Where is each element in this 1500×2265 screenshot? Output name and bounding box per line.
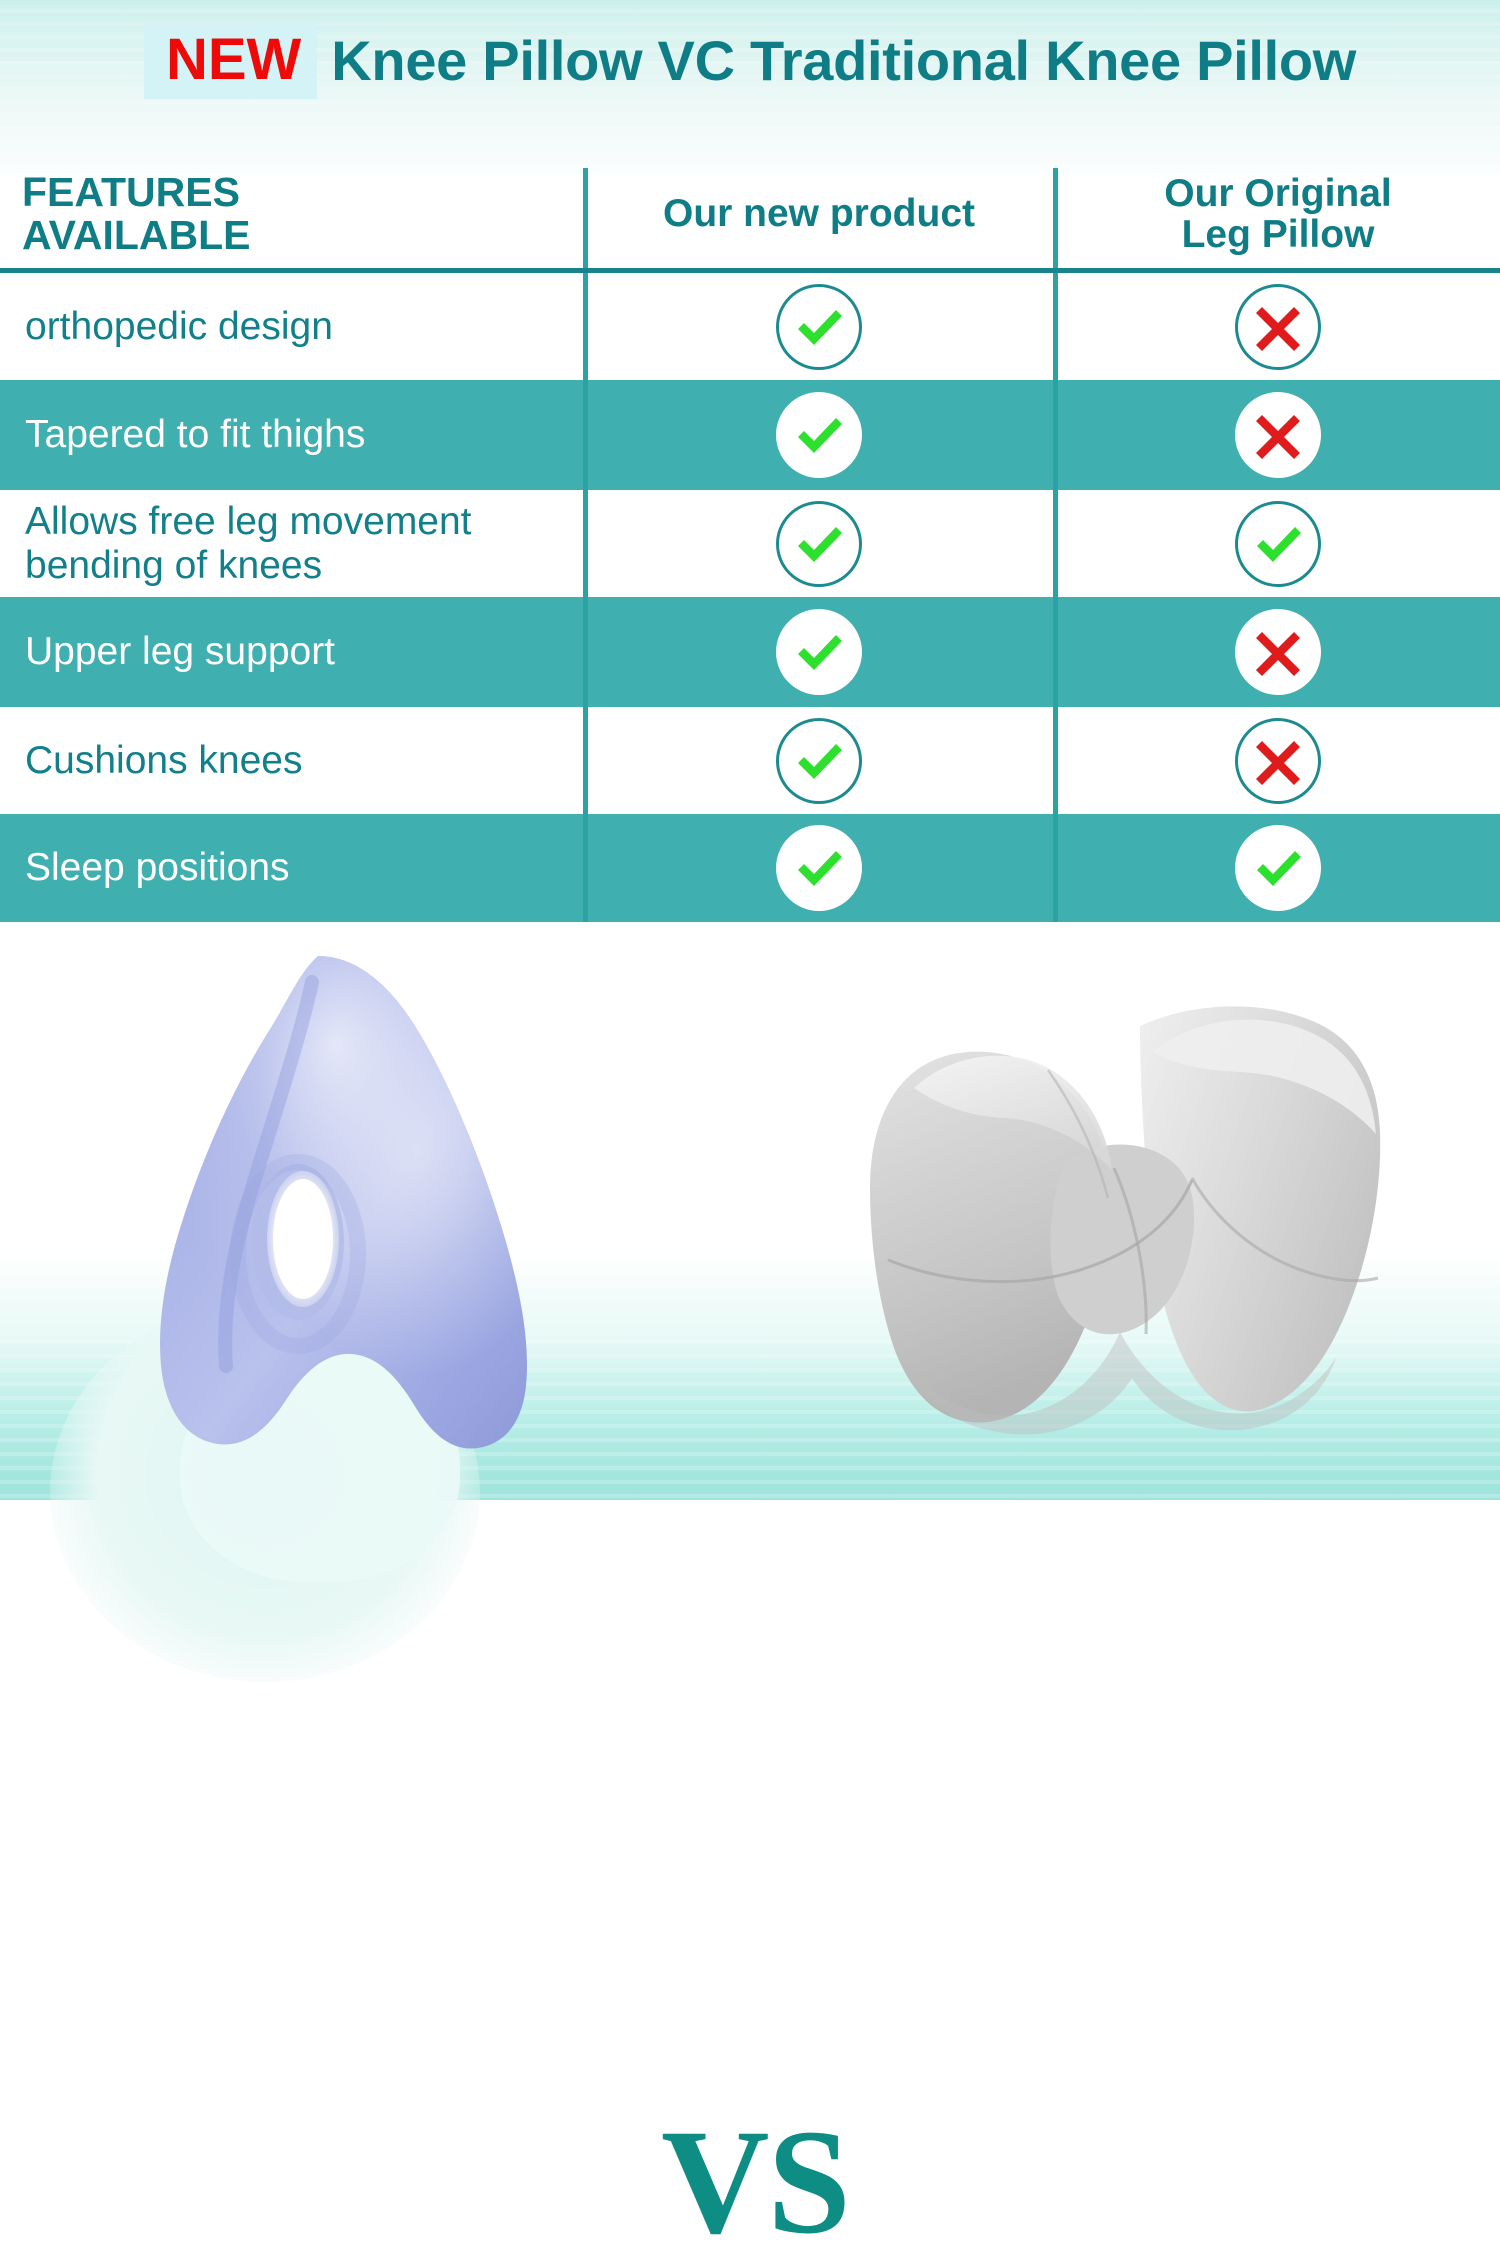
table-row: Cushions knees [0,707,1500,814]
column-header-features-line1: FEATURES [22,171,251,214]
table-row: Sleep positions [0,814,1500,922]
table-row: Upper leg support [0,597,1500,707]
check-mark-icon [776,609,862,695]
original-pillow-mark-cell [1058,597,1498,707]
column-header-features-line2: AVAILABLE [22,214,251,257]
comparison-table: FEATURES AVAILABLE Our new product Our O… [0,160,1500,922]
new-badge: NEW [144,23,317,99]
new-product-mark-cell [588,273,1050,380]
original-pillow-mark-cell [1058,814,1498,922]
column-divider-1 [583,168,588,922]
check-mark-icon [1235,501,1321,587]
feature-label-line1: Upper leg support [25,630,335,674]
feature-label: Sleep positions [25,814,565,922]
check-mark-icon [776,392,862,478]
column-header-new-product: Our new product [588,160,1050,268]
check-mark-icon [1235,825,1321,911]
new-product-mark-cell [588,707,1050,814]
feature-label: orthopedic design [25,273,565,380]
column-header-new-product-label: Our new product [663,193,975,234]
column-divider-2 [1053,168,1058,922]
check-mark-icon [776,284,862,370]
gray-leg-pillow-image [840,992,1400,1462]
feature-label-line1: Allows free leg movement [25,500,472,544]
header-underline [0,268,1500,273]
feature-label-line1: Tapered to fit thighs [25,413,365,457]
feature-label: Allows free leg movementbending of knees [25,490,565,597]
check-mark-icon [776,825,862,911]
table-row: Tapered to fit thighs [0,380,1500,490]
feature-label-line1: Cushions knees [25,739,303,783]
original-pillow-mark-cell [1058,273,1498,380]
new-product-mark-cell [588,597,1050,707]
feature-label: Upper leg support [25,597,565,707]
page-title-text: Knee Pillow VC Traditional Knee Pillow [317,33,1356,89]
column-header-original-pillow: Our Original Leg Pillow [1058,160,1498,268]
column-header-original-line1: Our Original [1164,173,1392,214]
original-pillow-mark-cell [1058,380,1498,490]
column-header-features: FEATURES AVAILABLE [22,160,562,268]
check-mark-icon [776,718,862,804]
cross-mark-icon [1235,284,1321,370]
new-product-mark-cell [588,490,1050,597]
cross-mark-icon [1235,392,1321,478]
feature-label-line1: orthopedic design [25,305,333,349]
new-product-mark-cell [588,380,1050,490]
check-mark-icon [776,501,862,587]
page-title: NEW Knee Pillow VC Traditional Knee Pill… [0,24,1500,98]
cross-mark-icon [1235,718,1321,804]
table-header-row: FEATURES AVAILABLE Our new product Our O… [0,160,1500,270]
feature-label-line2: bending of knees [25,544,472,588]
vs-label: VS [640,2107,870,2257]
original-pillow-mark-cell [1058,707,1498,814]
product-comparison-images: VS [0,922,1500,1500]
table-row: Allows free leg movementbending of knees [0,490,1500,597]
cross-mark-icon [1235,609,1321,695]
feature-label-line1: Sleep positions [25,846,290,890]
blue-knee-pillow-image [60,942,580,1472]
original-pillow-mark-cell [1058,490,1498,597]
feature-label: Tapered to fit thighs [25,380,565,490]
new-product-mark-cell [588,814,1050,922]
column-header-original-line2: Leg Pillow [1164,214,1392,255]
feature-label: Cushions knees [25,707,565,814]
table-row: orthopedic design [0,273,1500,380]
